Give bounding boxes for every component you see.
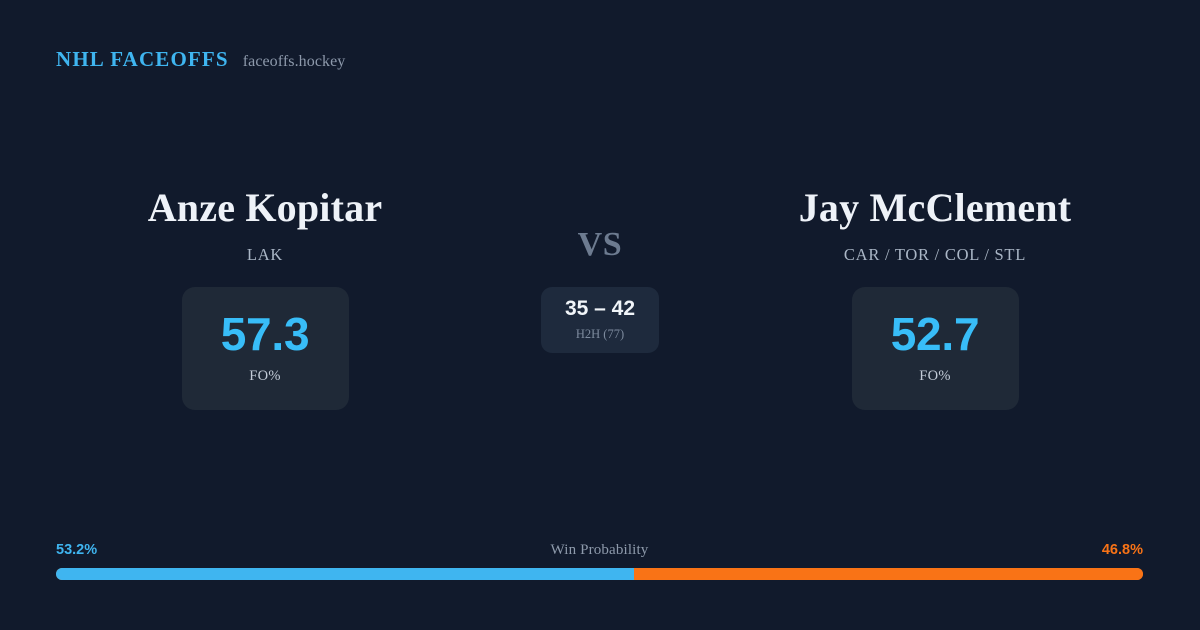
player-left: Anze Kopitar LAK 57.3 FO%	[30, 186, 500, 410]
player-right-faceoff-label: FO%	[919, 368, 950, 385]
vs-label: VS	[578, 228, 623, 262]
player-left-teams: LAK	[247, 245, 283, 265]
player-right: Jay McClement CAR / TOR / COL / STL 52.7…	[700, 186, 1170, 410]
brand-title: NHL FACEOFFS	[56, 47, 229, 72]
win-probability-bar-right-fill	[634, 568, 1143, 580]
site-header: NHL FACEOFFS faceoffs.hockey	[56, 47, 345, 72]
player-right-name: Jay McClement	[799, 186, 1072, 231]
player-right-faceoff-value: 52.7	[891, 311, 980, 357]
player-right-teams: CAR / TOR / COL / STL	[844, 245, 1026, 265]
win-probability-labels: 53.2% Win Probability 46.8%	[56, 542, 1143, 559]
matchup-center: VS 35 – 42 H2H (77)	[500, 186, 700, 353]
head-to-head-score: 35 – 42	[565, 298, 635, 319]
win-probability-title: Win Probability	[551, 542, 649, 559]
player-left-name: Anze Kopitar	[148, 186, 383, 231]
player-left-faceoff-card: 57.3 FO%	[182, 287, 349, 410]
win-probability-bar-left-fill	[56, 568, 634, 580]
brand-domain: faceoffs.hockey	[243, 53, 346, 71]
win-probability-left-percent: 53.2%	[56, 542, 97, 558]
player-left-faceoff-value: 57.3	[221, 311, 310, 357]
player-right-faceoff-card: 52.7 FO%	[852, 287, 1019, 410]
win-probability-right-percent: 46.8%	[1102, 542, 1143, 558]
player-left-faceoff-label: FO%	[249, 368, 280, 385]
head-to-head-label: H2H (77)	[576, 327, 624, 342]
win-probability-bar	[56, 568, 1143, 580]
win-probability-section: 53.2% Win Probability 46.8%	[56, 542, 1143, 580]
head-to-head-card: 35 – 42 H2H (77)	[541, 287, 659, 353]
matchup-section: Anze Kopitar LAK 57.3 FO% VS 35 – 42 H2H…	[0, 186, 1200, 410]
